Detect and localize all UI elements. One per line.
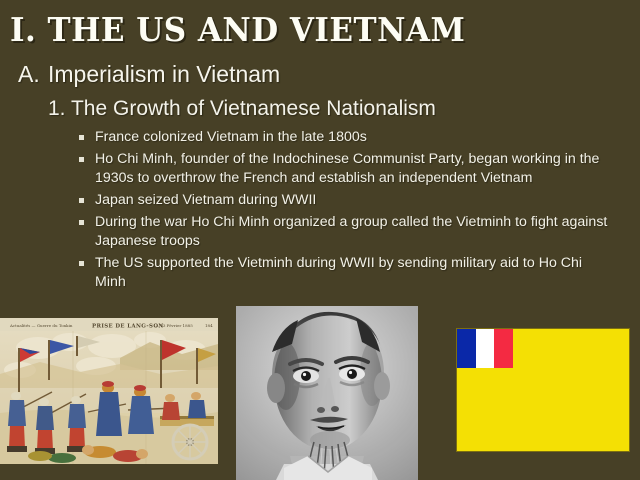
outline-level-a: A.Imperialism in Vietnam bbox=[18, 60, 280, 89]
bullet-item: Ho Chi Minh, founder of the Indochinese … bbox=[78, 150, 614, 188]
outline-level-a-label: A. bbox=[18, 60, 48, 89]
tricolor-stripe-red bbox=[494, 329, 513, 368]
french-indochina-flag bbox=[456, 328, 630, 452]
tricolor-stripe-blue bbox=[457, 329, 476, 368]
lithograph-artwork: Actualités — Guerre du Tonkin PRISE DE L… bbox=[0, 318, 218, 464]
bullet-item: The US supported the Vietminh during WWI… bbox=[78, 254, 614, 292]
flag-canton-tricolor bbox=[457, 329, 513, 368]
bullet-list: France colonized Vietnam in the late 180… bbox=[78, 128, 614, 295]
slide-title: I. The US and Vietnam bbox=[10, 12, 593, 48]
tricolor-stripe-white bbox=[476, 329, 495, 368]
presentation-slide: I. The US and Vietnam A.Imperialism in V… bbox=[0, 0, 640, 480]
prise-de-lang-son-lithograph: Actualités — Guerre du Tonkin PRISE DE L… bbox=[0, 318, 218, 464]
bullet-item: Japan seized Vietnam during WWII bbox=[78, 191, 614, 210]
ho-chi-minh-portrait bbox=[236, 306, 418, 480]
bullet-item: During the war Ho Chi Minh organized a g… bbox=[78, 213, 614, 251]
portrait-photograph bbox=[236, 306, 418, 480]
outline-level-b: 1. The Growth of Vietnamese Nationalism bbox=[48, 95, 436, 122]
outline-level-a-text: Imperialism in Vietnam bbox=[48, 61, 280, 87]
bullet-item: France colonized Vietnam in the late 180… bbox=[78, 128, 614, 147]
